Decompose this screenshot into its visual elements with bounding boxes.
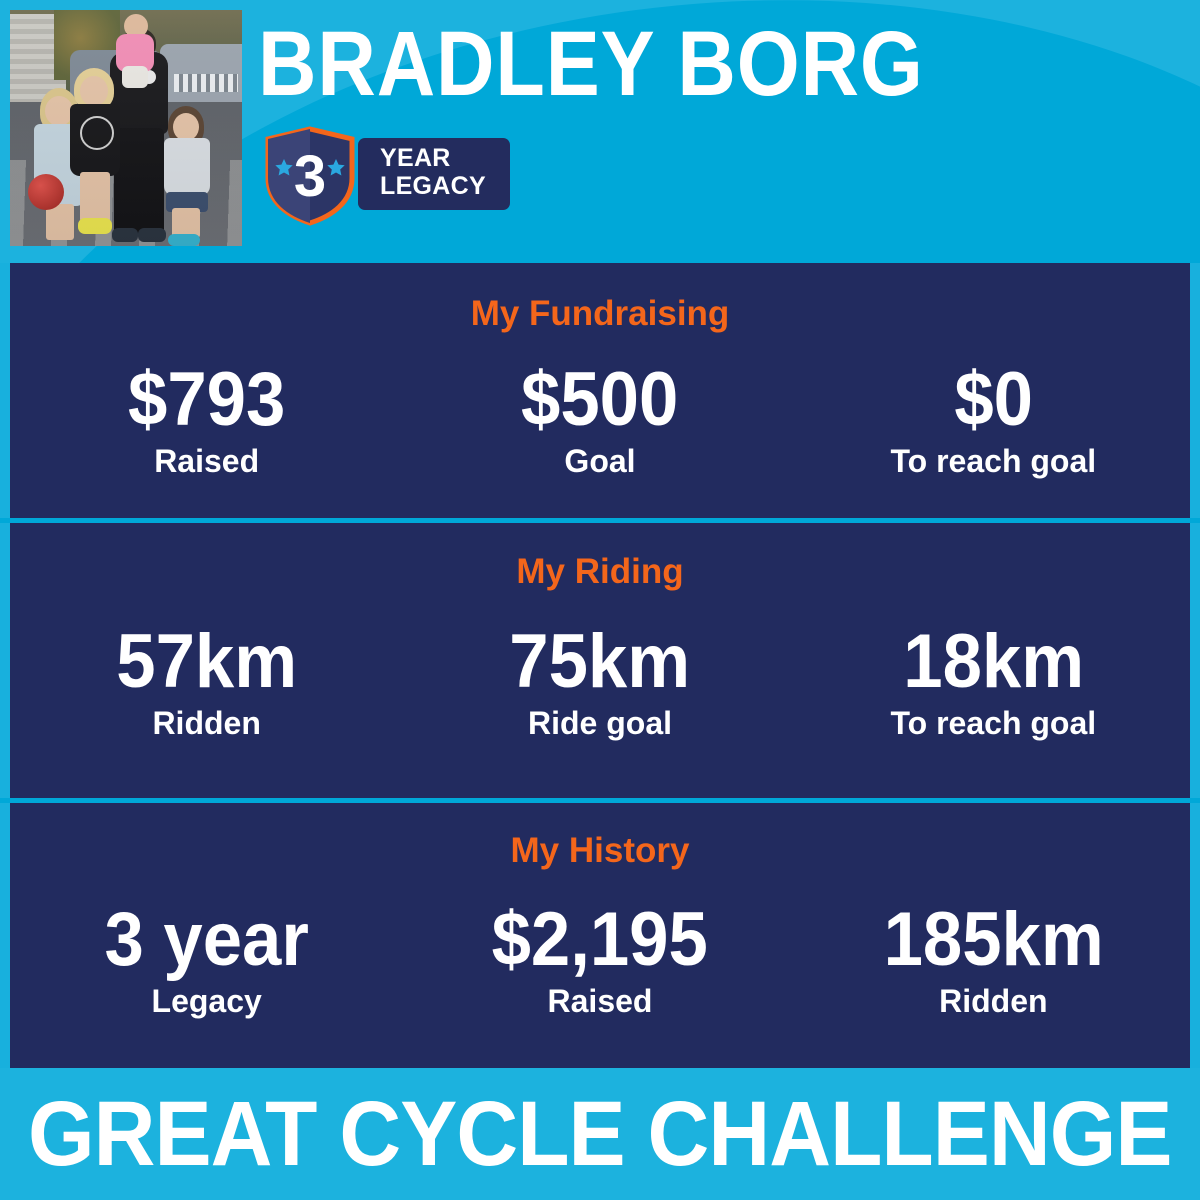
stat-ridden: 57km Ridden [10, 620, 403, 742]
stat-goal-label: Goal [403, 442, 796, 480]
section-my-fundraising: My Fundraising $793 Raised $500 Goal $0 … [10, 263, 1190, 518]
participant-photo [10, 10, 242, 246]
stat-to-reach-goal-distance-value: 18km [810, 620, 1176, 704]
stat-lifetime-ridden-value: 185km [810, 898, 1176, 982]
stat-raised: $793 Raised [10, 358, 403, 480]
stat-to-reach-goal-money: $0 To reach goal [797, 358, 1190, 480]
stat-ridden-value: 57km [24, 620, 390, 704]
legacy-banner-line1: YEAR [380, 144, 516, 172]
stat-to-reach-goal-money-value: $0 [810, 358, 1176, 442]
poster-footer: GREAT CYCLE CHALLENGE [0, 1068, 1200, 1200]
section-title-fundraising: My Fundraising [10, 294, 1190, 334]
stat-goal: $500 Goal [403, 358, 796, 480]
participant-name: BRADLEY BORG [258, 16, 1068, 112]
stats-row-history: 3 year Legacy $2,195 Raised 185km Ridden [10, 898, 1190, 1020]
stat-ride-goal-value: 75km [417, 620, 783, 704]
fundraising-poster: BRADLEY BORG 3 YEAR LEGACY My Fundraisin… [0, 0, 1200, 1200]
section-my-history: My History 3 year Legacy $2,195 Raised 1… [10, 803, 1190, 1068]
stat-to-reach-goal-distance: 18km To reach goal [797, 620, 1190, 742]
stat-legacy: 3 year Legacy [10, 898, 403, 1020]
legacy-banner-text: YEAR LEGACY [380, 144, 516, 200]
stat-ride-goal-label: Ride goal [403, 704, 796, 742]
stat-legacy-label: Legacy [10, 982, 403, 1020]
stat-ridden-label: Ridden [10, 704, 403, 742]
stat-raised-value: $793 [24, 358, 390, 442]
legacy-badge: 3 YEAR LEGACY [262, 126, 510, 226]
photo-content [10, 10, 242, 246]
stat-lifetime-ridden: 185km Ridden [797, 898, 1190, 1020]
legacy-years-value: 3 [262, 126, 358, 226]
shield-icon: 3 [262, 126, 358, 226]
stat-lifetime-raised-value: $2,195 [417, 898, 783, 982]
section-title-riding: My Riding [10, 552, 1190, 592]
stat-lifetime-raised: $2,195 Raised [403, 898, 796, 1020]
stat-lifetime-ridden-label: Ridden [797, 982, 1190, 1020]
stat-ride-goal: 75km Ride goal [403, 620, 796, 742]
stat-lifetime-raised-label: Raised [403, 982, 796, 1020]
photo-overlay [10, 10, 242, 246]
section-my-riding: My Riding 57km Ridden 75km Ride goal 18k… [10, 523, 1190, 798]
poster-header: BRADLEY BORG 3 YEAR LEGACY [0, 0, 1200, 263]
stats-row-riding: 57km Ridden 75km Ride goal 18km To reach… [10, 620, 1190, 742]
stat-raised-label: Raised [10, 442, 403, 480]
section-title-history: My History [10, 831, 1190, 871]
legacy-banner-line2: LEGACY [380, 172, 516, 200]
stat-to-reach-goal-distance-label: To reach goal [797, 704, 1190, 742]
stat-legacy-value: 3 year [24, 898, 390, 982]
stat-goal-value: $500 [417, 358, 783, 442]
brand-wordmark: GREAT CYCLE CHALLENGE [28, 1086, 1171, 1182]
stats-row-fundraising: $793 Raised $500 Goal $0 To reach goal [10, 358, 1190, 480]
stat-to-reach-goal-money-label: To reach goal [797, 442, 1190, 480]
